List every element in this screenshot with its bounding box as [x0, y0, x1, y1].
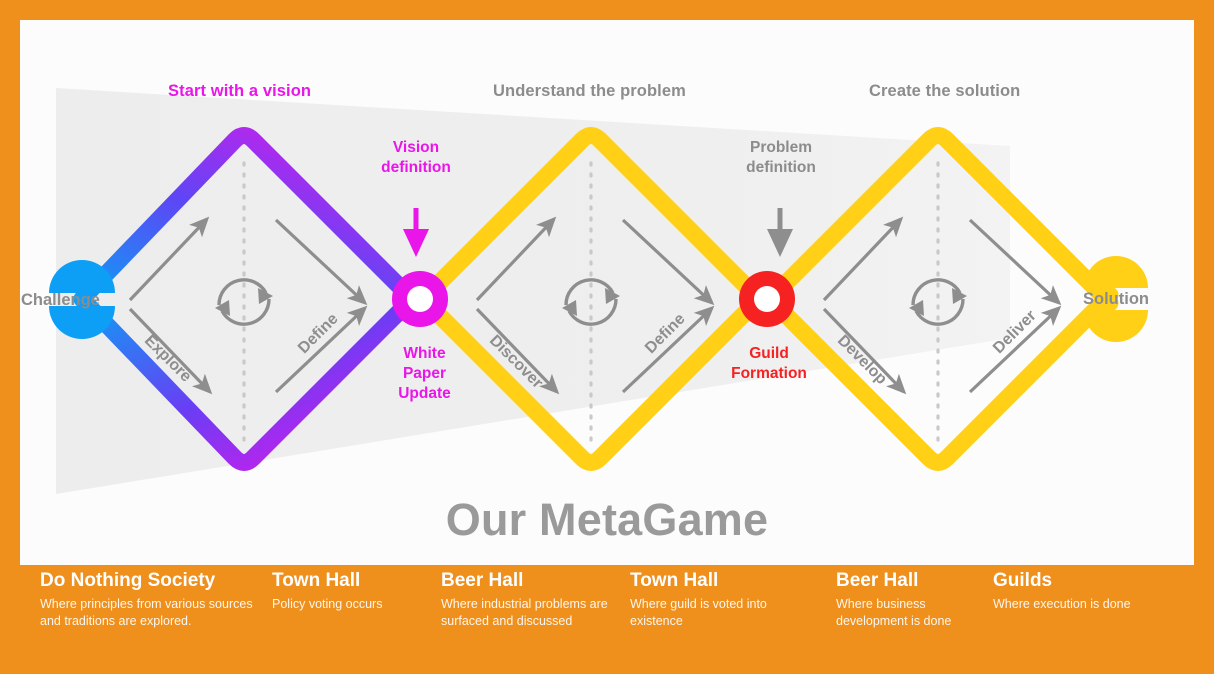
- node-label-white-paper-update: White Paper Update: [372, 344, 477, 404]
- legend-title-4: Beer Hall: [836, 570, 986, 592]
- legend-title-5: Guilds: [993, 570, 1183, 592]
- legend-title-1: Town Hall: [272, 570, 432, 592]
- guild-formation-line2: Formation: [709, 364, 829, 384]
- white-paper-line3: Update: [372, 384, 477, 404]
- legend-desc-3: Where guild is voted into existence: [630, 596, 805, 630]
- vision-definition-callout: Vision definition: [361, 138, 471, 178]
- vision-definition-line2: definition: [361, 158, 471, 178]
- phase-header-1: Start with a vision: [168, 82, 311, 101]
- diagram-svg: [20, 20, 1194, 565]
- guild-formation-line1: Guild: [709, 344, 829, 364]
- legend-desc-4: Where business development is done: [836, 596, 986, 630]
- legend-title-2: Beer Hall: [441, 570, 621, 592]
- legend-item-2: Beer Hall Where industrial problems are …: [441, 570, 621, 630]
- legend-item-4: Beer Hall Where business development is …: [836, 570, 986, 630]
- page-title: Our MetaGame: [20, 494, 1194, 546]
- phase-header-3: Create the solution: [869, 82, 1020, 101]
- problem-definition-line1: Problem: [721, 138, 841, 158]
- legend-desc-5: Where execution is done: [993, 596, 1183, 613]
- legend-item-0: Do Nothing Society Where principles from…: [40, 570, 255, 630]
- problem-definition-callout: Problem definition: [721, 138, 841, 178]
- vision-definition-line1: Vision: [361, 138, 471, 158]
- legend-bar: Do Nothing Society Where principles from…: [0, 570, 1214, 674]
- legend-title-3: Town Hall: [630, 570, 805, 592]
- white-paper-line1: White: [372, 344, 477, 364]
- node-problem-ring: [739, 271, 795, 327]
- legend-desc-2: Where industrial problems are surfaced a…: [441, 596, 621, 630]
- legend-item-3: Town Hall Where guild is voted into exis…: [630, 570, 805, 630]
- node-vision-ring: [392, 271, 448, 327]
- problem-definition-line2: definition: [721, 158, 841, 178]
- legend-item-1: Town Hall Policy voting occurs: [272, 570, 432, 613]
- legend-desc-0: Where principles from various sources an…: [40, 596, 255, 630]
- diagram-root: Start with a vision Understand the probl…: [0, 0, 1214, 674]
- phase-header-2: Understand the problem: [493, 82, 686, 101]
- node-label-guild-formation: Guild Formation: [709, 344, 829, 384]
- legend-item-5: Guilds Where execution is done: [993, 570, 1183, 613]
- endpoint-label-challenge: Challenge: [21, 291, 100, 310]
- diagram-canvas: Start with a vision Understand the probl…: [20, 20, 1194, 565]
- endpoint-label-solution: Solution: [1083, 290, 1149, 309]
- legend-desc-1: Policy voting occurs: [272, 596, 432, 613]
- white-paper-line2: Paper: [372, 364, 477, 384]
- legend-title-0: Do Nothing Society: [40, 570, 255, 592]
- perspective-band: [56, 88, 1010, 494]
